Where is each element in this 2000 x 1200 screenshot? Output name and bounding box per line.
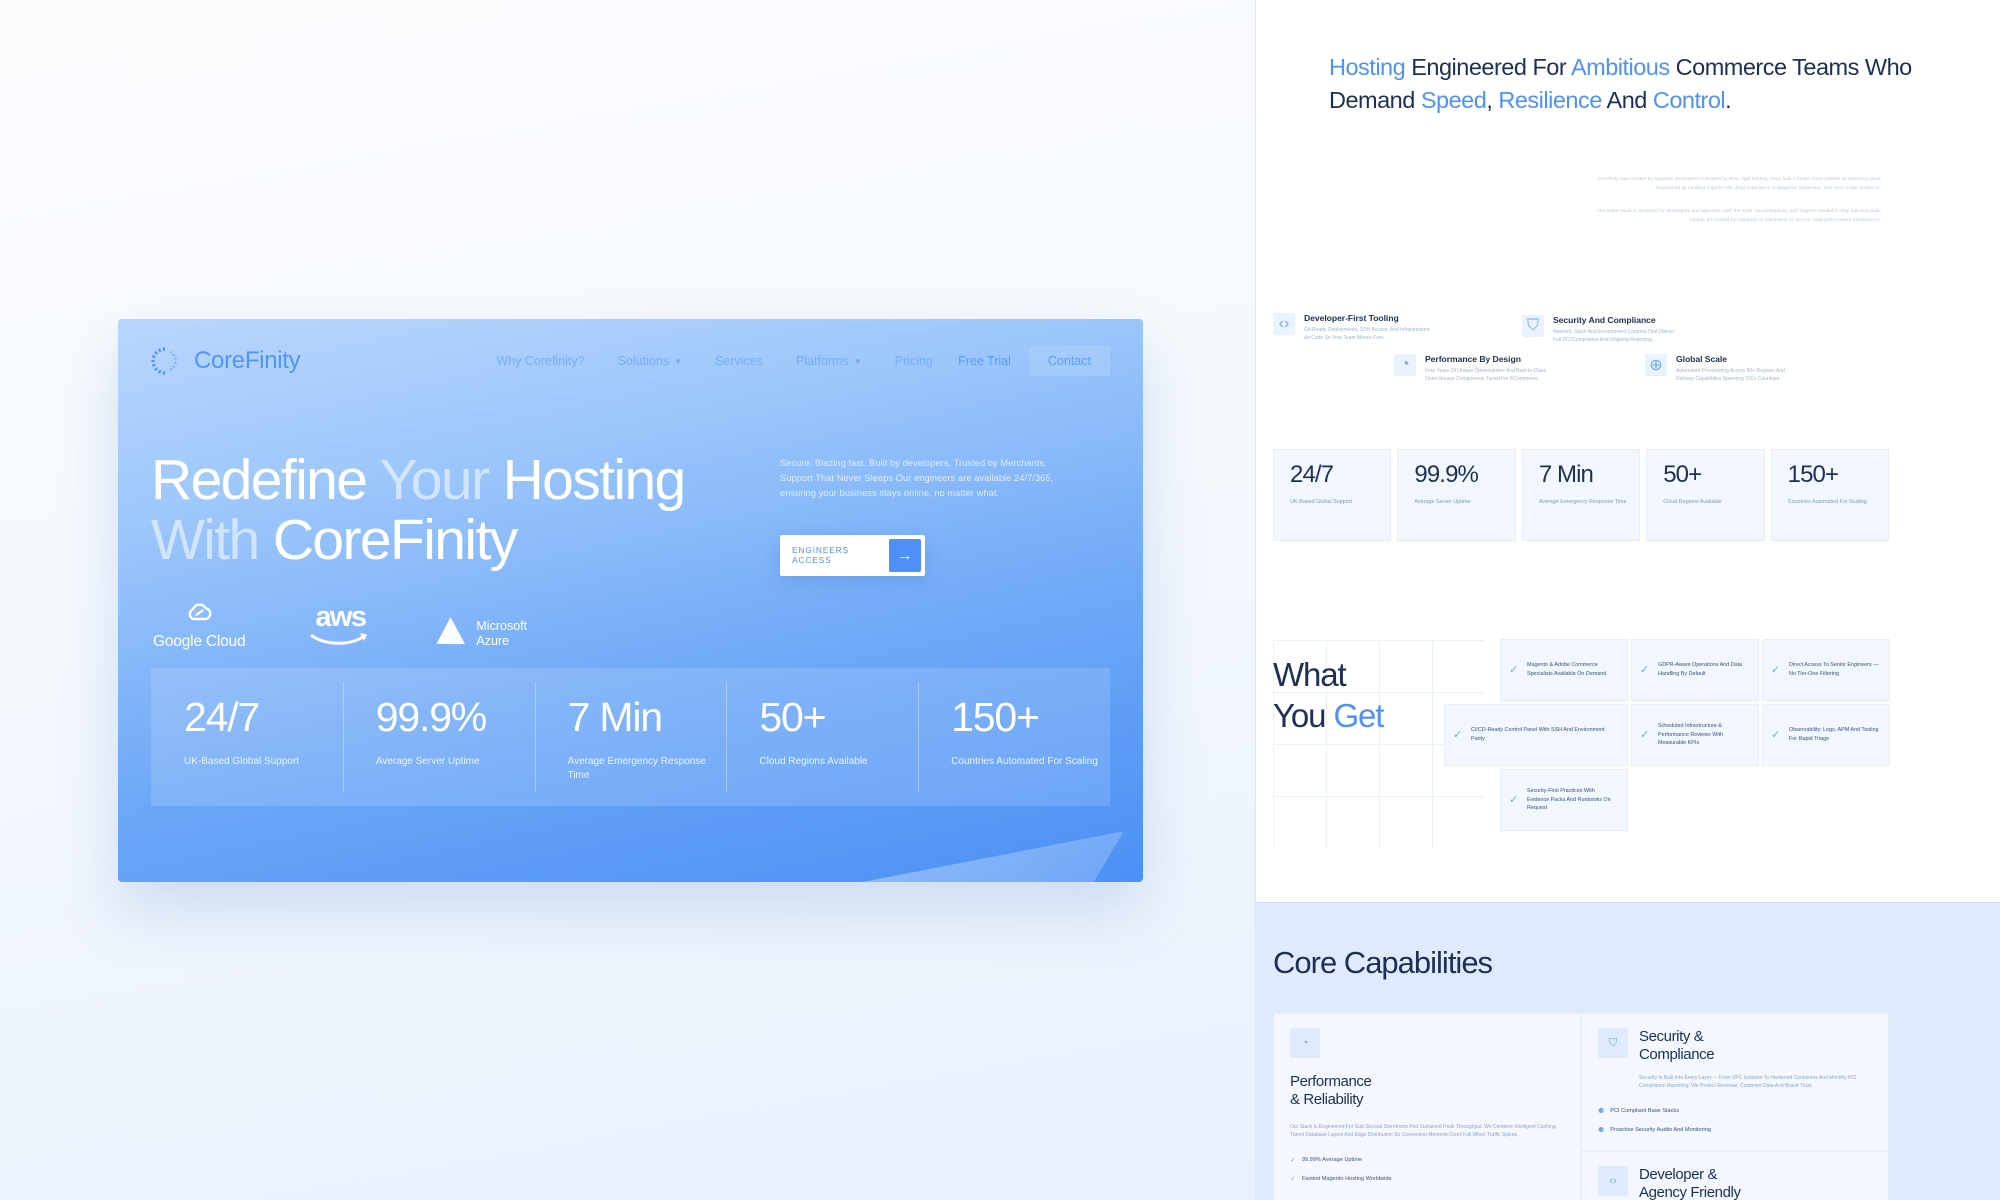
google-cloud-label: Google Cloud (153, 633, 245, 651)
nav-actions: Free Trial Contact (958, 346, 1110, 376)
stat-value: 150+ (951, 697, 1110, 738)
capability-desc: Security Is Built Into Every Layer — Fro… (1639, 1074, 1872, 1090)
capability-title-line-1: Developer & (1639, 1166, 1872, 1184)
benefit-item[interactable]: ✓ GDPR-Aware Operations And Data Handlin… (1631, 639, 1759, 701)
feature-title: Global Scale (1676, 354, 1804, 364)
benefit-item[interactable]: ✓ CI/CD-Ready Control Panel With SSH And… (1444, 704, 1628, 766)
cta-label: ENGINEERS ACCESS (792, 545, 889, 565)
stat-item: 50+ Cloud Regions Available (1646, 449, 1764, 541)
stat-item: 7 Min Average Emergency Response Time (535, 668, 727, 806)
headline-word: Hosting (488, 448, 684, 512)
headline-word-accent: Resilience (1498, 87, 1601, 113)
benefit-text: CI/CD-Ready Control Panel With SSH And E… (1471, 726, 1618, 744)
shield-icon: ⛉ (1522, 315, 1544, 337)
hero-headline-line-2: With CoreFinity (151, 510, 751, 570)
stat-item: 99.9% Average Server Uptime (343, 668, 535, 806)
capability-list-item: ⚈ Proactive Security Audits And Monitori… (1598, 1126, 1872, 1134)
headline-word: . (1725, 87, 1731, 113)
stat-item: 7 Min Average Emergency Response Time (1522, 449, 1640, 541)
stat-label: Average Emergency Response Time (568, 755, 727, 783)
capability-card-security-compliance[interactable]: ⛉ Security & Compliance Security Is Buil… (1581, 1013, 1889, 1151)
stat-value: 24/7 (1290, 463, 1390, 487)
nav-item-platforms[interactable]: Platforms ▼ (796, 354, 862, 368)
stat-item: 150+ Countries Automated For Scaling (918, 668, 1110, 806)
benefit-text: Security-First Practices With Evidence P… (1527, 787, 1618, 813)
capability-list: ⚈ PCI Compliant Base Stacks ⚈ Proactive … (1598, 1107, 1872, 1134)
azure-label: Microsoft Azure (476, 619, 527, 648)
capability-title: Developer & Agency Friendly (1639, 1166, 1872, 1200)
cloud-provider-logos: Google Cloud aws (153, 601, 527, 651)
panel-headline: Hosting Engineered For Ambitious Commerc… (1329, 51, 1929, 118)
capability-title: Performance & Reliability (1290, 1073, 1564, 1110)
chevron-down-icon: ▼ (674, 358, 682, 366)
stat-item: 24/7 UK-Based Global Support (151, 668, 343, 806)
panel-paragraph: The entire stack is designed for develop… (1596, 208, 1881, 226)
azure-icon (435, 616, 467, 651)
stat-label: Cloud Regions Available (759, 755, 918, 769)
nav-item-why-corefinity[interactable]: Why Corefinity? (496, 354, 584, 368)
nav-item-solutions[interactable]: Solutions ▼ (618, 354, 682, 368)
google-cloud-icon (181, 601, 217, 630)
check-circle-icon: ✓ (1509, 795, 1520, 806)
core-capabilities-grid: ◔ Performance & Reliability Our Stack Is… (1273, 1013, 1889, 1200)
headline-word: Engineered For (1405, 54, 1571, 80)
benefit-text: Scheduled Infrastructure & Performance R… (1658, 722, 1749, 748)
benefit-text: Magento & Adobe Commerce Specialists Ava… (1527, 661, 1618, 679)
globe-icon: ⊕ (1645, 354, 1667, 376)
hero-paragraph: Secure. Blazing fast. Built by developer… (780, 456, 1055, 501)
capability-card-performance-reliability[interactable]: ◔ Performance & Reliability Our Stack Is… (1273, 1013, 1581, 1200)
title-line-1: What (1273, 654, 1383, 695)
stat-item: 50+ Cloud Regions Available (726, 668, 918, 806)
shield-check-icon: ⚈ (1598, 1107, 1604, 1115)
feature-title: Security And Compliance (1553, 315, 1681, 325)
stat-label: Average Emergency Response Time (1539, 498, 1639, 506)
headline-word: Redefine (151, 448, 380, 512)
feature-title: Developer-First Tooling (1304, 313, 1432, 323)
capability-title: Security & Compliance (1639, 1028, 1872, 1065)
headline-word-accent: Control (1653, 87, 1725, 113)
right-preview-panel: Hosting Engineered For Ambitious Commerc… (1255, 0, 2000, 1200)
hero-headline-line-1: Redefine Your Hosting (151, 450, 751, 510)
check-circle-icon: ✓ (1771, 730, 1782, 741)
stat-value: 99.9% (376, 697, 535, 738)
capability-list-item: ✓ 99.99% Average Uptime (1290, 1156, 1564, 1164)
aws-label: aws (315, 605, 365, 630)
google-cloud-logo: Google Cloud (153, 601, 245, 651)
headline-word: And (1602, 87, 1653, 113)
nav-links: Why Corefinity? Solutions ▼ Services Pla… (496, 354, 932, 368)
contact-button[interactable]: Contact (1029, 346, 1110, 376)
title-word: You (1273, 697, 1333, 734)
capability-list-text: PCI Compliant Base Stacks (1610, 1108, 1679, 1114)
capability-list: ✓ 99.99% Average Uptime ✓ Fastest Magent… (1290, 1156, 1564, 1183)
panel-stats-strip: 24/7 UK-Based Global Support 99.9% Avera… (1273, 449, 1889, 541)
what-you-get-grid: ✓ Magento & Adobe Commerce Specialists A… (1500, 639, 1890, 831)
panel-paragraph: Corefinity was created by Magento develo… (1596, 176, 1881, 194)
arrow-right-icon: → (889, 539, 921, 572)
check-circle-icon: ✓ (1640, 665, 1651, 676)
title-word-accent: Get (1333, 697, 1383, 734)
capability-list-text: 99.99% Average Uptime (1302, 1157, 1362, 1163)
stat-value: 50+ (1663, 463, 1763, 487)
brand-name: CoreFinity (194, 347, 300, 375)
stat-value: 99.9% (1414, 463, 1514, 487)
panel-feature-grid: ‹› Developer-First Tooling Git-Ready Dep… (1256, 318, 2000, 418)
capability-list-item: ⚈ PCI Compliant Base Stacks (1598, 1107, 1872, 1115)
nav-label: Platforms (796, 354, 849, 368)
stat-label: UK-Based Global Support (184, 755, 343, 769)
hero-secondary-copy: Secure. Blazing fast. Built by developer… (780, 456, 1055, 576)
capability-title-line-1: Security & (1639, 1028, 1872, 1046)
benefit-item[interactable]: ✓ Security-First Practices With Evidence… (1500, 769, 1628, 831)
benefit-item[interactable]: ✓ Direct Access To Senior Engineers — No… (1762, 639, 1890, 701)
benefit-item[interactable]: ✓ Magento & Adobe Commerce Specialists A… (1500, 639, 1628, 701)
stat-label: UK-Based Global Support (1290, 498, 1390, 506)
aws-smile-icon (308, 630, 372, 651)
capability-title-line-2: Agency Friendly (1639, 1184, 1872, 1200)
nav-label: Services (715, 354, 763, 368)
stat-value: 150+ (1788, 463, 1888, 487)
benefit-item[interactable]: ✓ Observability: Logs, APM And Tooling F… (1762, 704, 1890, 766)
nav-item-services[interactable]: Services (715, 354, 763, 368)
what-you-get-title: What You Get (1273, 654, 1383, 737)
capability-title-line-2: & Reliability (1290, 1091, 1564, 1109)
capability-list-item: ✓ Fastest Magento Hosting Worldwide (1290, 1175, 1564, 1183)
check-circle-icon: ✓ (1771, 665, 1782, 676)
shield-check-icon: ⚈ (1598, 1126, 1604, 1134)
benefit-text: Observability: Logs, APM And Tooling For… (1789, 726, 1880, 744)
panel-intro-paragraphs: Corefinity was created by Magento develo… (1596, 176, 1881, 225)
check-circle-icon: ✓ (1640, 730, 1651, 741)
feature-card-developer-first-tooling[interactable]: ‹› Developer-First Tooling Git-Ready Dep… (1273, 313, 1432, 342)
stat-label: Average Server Uptime (376, 755, 535, 769)
stat-value: 7 Min (568, 697, 727, 738)
hero-headline: Redefine Your Hosting With CoreFinity (151, 450, 751, 571)
azure-label-line-1: Microsoft (476, 619, 527, 634)
nav-label: Solutions (618, 354, 669, 368)
capability-list-text: Fastest Magento Hosting Worldwide (1302, 1176, 1392, 1182)
stat-label: Cloud Regions Available (1663, 498, 1763, 506)
feature-card-security-and-compliance[interactable]: ⛉ Security And Compliance Network, Stack… (1522, 315, 1681, 344)
nav-item-pricing[interactable]: Pricing (895, 354, 933, 368)
feature-desc: Network, Stack And Environment Controls … (1553, 328, 1681, 344)
feature-desc: Four Years Of Unique Optimisations And B… (1425, 367, 1553, 383)
capability-list-text: Proactive Security Audits And Monitoring (1610, 1127, 1711, 1133)
feature-card-performance-by-design[interactable]: ◔ Performance By Design Four Years Of Un… (1394, 354, 1553, 383)
feature-desc: Git-Ready Deployments, SSH Access, And I… (1304, 326, 1432, 342)
stat-label: Countries Automated For Scaling (1788, 498, 1888, 506)
left-canvas: CoreFinity Why Corefinity? Solutions ▼ S… (0, 0, 1255, 1200)
stat-value: 7 Min (1539, 463, 1639, 487)
headline-word: CoreFinity (259, 508, 517, 572)
capability-card-developer-agency-friendly[interactable]: ‹› Developer & Agency Friendly We Build … (1581, 1151, 1889, 1200)
capability-desc: Our Stack Is Engineered For Sub-Second S… (1290, 1123, 1564, 1139)
nav-label: Pricing (895, 354, 933, 368)
headline-word-dim: With (151, 508, 259, 572)
benefit-text: Direct Access To Senior Engineers — No T… (1789, 661, 1880, 679)
feature-title: Performance By Design (1425, 354, 1553, 364)
engineers-access-button[interactable]: ENGINEERS ACCESS → (780, 535, 925, 576)
check-icon: ✓ (1290, 1175, 1296, 1183)
capability-title-line-1: Performance (1290, 1073, 1564, 1091)
stat-value: 50+ (759, 697, 918, 738)
stat-item: 99.9% Average Server Uptime (1397, 449, 1515, 541)
free-trial-link[interactable]: Free Trial (958, 354, 1011, 368)
hero-stats-band: 24/7 UK-Based Global Support 99.9% Avera… (151, 668, 1110, 806)
title-line-2: You Get (1273, 695, 1383, 736)
check-circle-icon: ✓ (1509, 665, 1520, 676)
primary-navigation: CoreFinity Why Corefinity? Solutions ▼ S… (118, 319, 1143, 402)
stat-value: 24/7 (184, 697, 343, 738)
corefinity-logo-icon (151, 346, 185, 376)
hero-card: CoreFinity Why Corefinity? Solutions ▼ S… (118, 319, 1143, 882)
check-icon: ✓ (1290, 1156, 1296, 1164)
benefit-item[interactable]: ✓ Scheduled Infrastructure & Performance… (1631, 704, 1759, 766)
speedometer-icon: ◔ (1394, 354, 1416, 376)
aws-logo: aws (308, 605, 372, 651)
feature-desc: Automated Provisioning Across 50+ Region… (1676, 367, 1804, 383)
headline-word-accent: Speed (1421, 87, 1486, 113)
sheet-layer (632, 831, 1124, 882)
headline-word: , (1486, 87, 1498, 113)
code-icon: ‹› (1598, 1166, 1628, 1196)
stat-label: Countries Automated For Scaling (951, 755, 1110, 769)
feature-card-global-scale[interactable]: ⊕ Global Scale Automated Provisioning Ac… (1645, 354, 1804, 383)
headline-word-accent: Ambitious (1571, 54, 1670, 80)
stat-item: 150+ Countries Automated For Scaling (1771, 449, 1889, 541)
speedometer-icon: ◔ (1290, 1028, 1320, 1058)
headline-word-dim: Your (380, 448, 489, 512)
core-capabilities-title: Core Capabilities (1273, 945, 1492, 981)
microsoft-azure-logo: Microsoft Azure (435, 616, 527, 651)
check-circle-icon: ✓ (1453, 730, 1464, 741)
stat-item: 24/7 UK-Based Global Support (1273, 449, 1391, 541)
brand-logo[interactable]: CoreFinity (151, 346, 300, 376)
capability-title-line-2: Compliance (1639, 1046, 1872, 1064)
hero-copy: Redefine Your Hosting With CoreFinity (151, 450, 751, 571)
nav-label: Why Corefinity? (496, 354, 584, 368)
stat-label: Average Server Uptime (1414, 498, 1514, 506)
code-icon: ‹› (1273, 313, 1295, 335)
azure-label-line-2: Azure (476, 634, 527, 649)
benefit-text: GDPR-Aware Operations And Data Handling … (1658, 661, 1749, 679)
headline-word-accent: Hosting (1329, 54, 1405, 80)
chevron-down-icon: ▼ (854, 358, 862, 366)
shield-icon: ⛉ (1598, 1028, 1628, 1058)
